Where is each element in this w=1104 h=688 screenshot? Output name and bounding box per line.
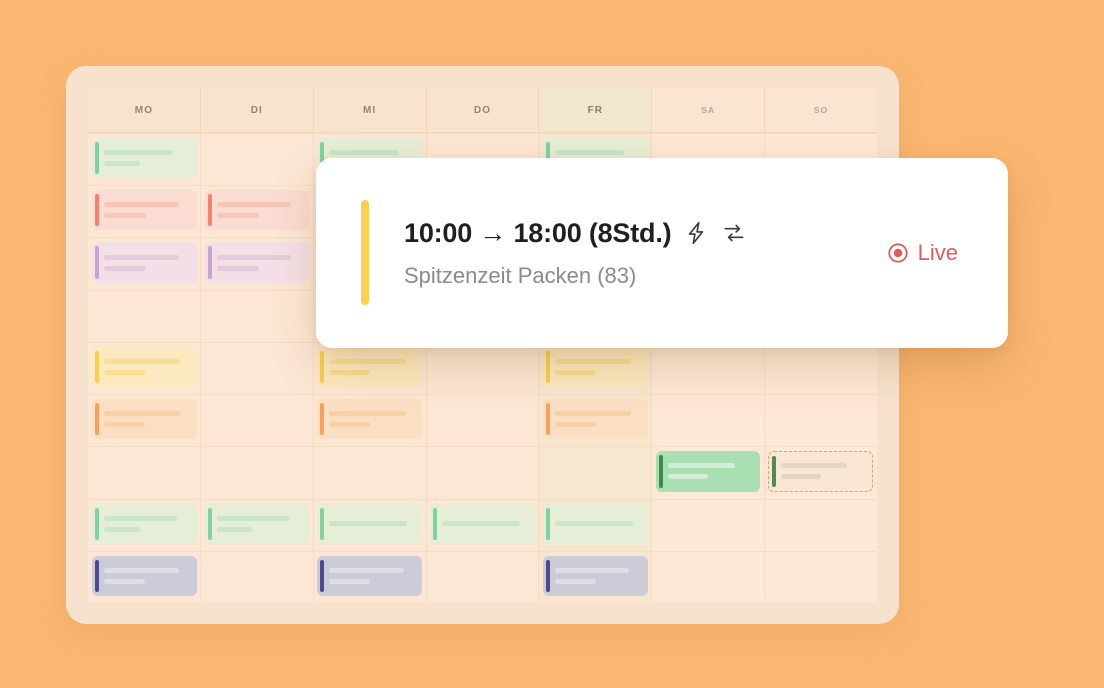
event-detail-card[interactable]: 10:00 → 18:00 (8Std.) Spitzenzeit Packen… [316, 158, 1008, 348]
calendar-event[interactable] [92, 504, 197, 544]
calendar-event-text-placeholder [104, 266, 146, 271]
calendar-event[interactable] [317, 399, 422, 439]
calendar-event-text-placeholder [781, 474, 821, 479]
calendar-event[interactable] [317, 347, 422, 387]
calendar-event-text-placeholder [104, 370, 145, 375]
calendar-event-accent [433, 508, 437, 540]
calendar-event[interactable] [92, 399, 197, 439]
event-detail-accent-bar [361, 200, 369, 305]
calendar-event-text-placeholder [104, 161, 140, 166]
calendar-event-accent [208, 194, 212, 226]
calendar-event[interactable] [92, 347, 197, 387]
calendar-event-accent [546, 560, 550, 592]
live-status-badge: Live [887, 240, 970, 266]
calendar-event-text-placeholder [329, 359, 405, 364]
calendar-event-text-placeholder [217, 202, 292, 207]
calendar-event-text-placeholder [329, 411, 405, 416]
lightning-bolt-icon[interactable] [683, 220, 709, 246]
event-detail-title-row: 10:00 → 18:00 (8Std.) [404, 218, 887, 249]
calendar-event-accent [320, 560, 324, 592]
calendar-event-accent [95, 246, 99, 278]
calendar-event-text-placeholder [555, 521, 633, 526]
calendar-event[interactable] [205, 242, 310, 282]
calendar-event-accent [546, 508, 550, 540]
calendar-event-text-placeholder [329, 521, 407, 526]
calendar-event[interactable] [656, 451, 761, 491]
calendar-event-text-placeholder [555, 359, 631, 364]
calendar-event[interactable] [543, 504, 648, 544]
calendar-event[interactable] [92, 242, 197, 282]
calendar-event-text-placeholder [104, 411, 180, 416]
calendar-event-text-placeholder [781, 463, 847, 468]
calendar-event-accent [95, 403, 99, 435]
calendar-event-text-placeholder [104, 516, 177, 521]
calendar-event-text-placeholder [329, 150, 398, 155]
calendar-event-accent [208, 508, 212, 540]
event-detail-text: 10:00 → 18:00 (8Std.) Spitzenzeit Packen… [364, 218, 887, 289]
calendar-event-text-placeholder [104, 359, 180, 364]
calendar-event[interactable] [543, 347, 648, 387]
calendar-event[interactable] [543, 399, 648, 439]
calendar-event-text-placeholder [217, 527, 253, 532]
calendar-event-text-placeholder [555, 568, 630, 573]
calendar-event-text-placeholder [104, 568, 179, 573]
calendar-event-text-placeholder [329, 579, 370, 584]
live-status-label: Live [918, 240, 958, 266]
calendar-event-text-placeholder [329, 422, 370, 427]
calendar-event[interactable] [92, 556, 197, 596]
weekday-header-do[interactable]: DO [427, 88, 540, 132]
calendar-event[interactable] [317, 556, 422, 596]
calendar-event-text-placeholder [217, 516, 290, 521]
record-dot-icon [887, 242, 909, 264]
event-time-range: 10:00 → 18:00 (8Std.) [404, 218, 671, 249]
calendar-event-accent [320, 508, 324, 540]
calendar-event-accent [320, 403, 324, 435]
weekday-header-mo[interactable]: MO [88, 88, 201, 132]
weekday-header-di[interactable]: DI [201, 88, 314, 132]
event-detail-subtitle: Spitzenzeit Packen (83) [404, 263, 887, 289]
calendar-event[interactable] [543, 556, 648, 596]
calendar-event-accent [95, 560, 99, 592]
calendar-event-text-placeholder [555, 579, 596, 584]
calendar-event[interactable] [430, 504, 535, 544]
weekday-header-fr[interactable]: FR [539, 88, 652, 132]
calendar-event-text-placeholder [555, 150, 624, 155]
calendar-event-text-placeholder [555, 422, 596, 427]
calendar-event-text-placeholder [555, 370, 596, 375]
calendar-event-text-placeholder [104, 527, 140, 532]
calendar-event[interactable] [317, 504, 422, 544]
weekday-header-so[interactable]: SO [765, 88, 877, 132]
calendar-event-text-placeholder [104, 422, 145, 427]
calendar-event-text-placeholder [104, 213, 146, 218]
calendar-event-accent [95, 508, 99, 540]
calendar-event-text-placeholder [555, 411, 631, 416]
calendar-event-text-placeholder [104, 255, 179, 260]
calendar-event-accent [659, 455, 663, 487]
calendar-event[interactable] [205, 190, 310, 230]
calendar-event-text-placeholder [217, 266, 259, 271]
calendar-event-text-placeholder [329, 370, 370, 375]
calendar-event-accent [95, 351, 99, 383]
calendar-event-accent [320, 351, 324, 383]
calendar-event[interactable] [92, 138, 197, 178]
calendar-event-accent [546, 403, 550, 435]
calendar-event-text-placeholder [442, 521, 520, 526]
weekday-header-row: MODIMIDOFRSASO [88, 88, 877, 133]
repeat-arrows-icon[interactable] [721, 220, 747, 246]
calendar-event-accent [95, 142, 99, 174]
calendar-event-text-placeholder [217, 213, 259, 218]
calendar-event-text-placeholder [668, 463, 736, 468]
calendar-event-text-placeholder [329, 568, 404, 573]
calendar-event-text-placeholder [104, 579, 145, 584]
calendar-event-accent [95, 194, 99, 226]
calendar-event-accent [772, 456, 776, 486]
calendar-event[interactable] [92, 190, 197, 230]
calendar-event-text-placeholder [104, 150, 173, 155]
calendar-event-text-placeholder [668, 474, 709, 479]
calendar-event[interactable] [205, 504, 310, 544]
calendar-event-accent [546, 351, 550, 383]
calendar-event-text-placeholder [217, 255, 292, 260]
weekday-header-sa[interactable]: SA [652, 88, 765, 132]
weekday-header-mi[interactable]: MI [314, 88, 427, 132]
calendar-event-accent [208, 246, 212, 278]
calendar-event[interactable] [768, 451, 873, 491]
calendar-event-text-placeholder [104, 202, 179, 207]
